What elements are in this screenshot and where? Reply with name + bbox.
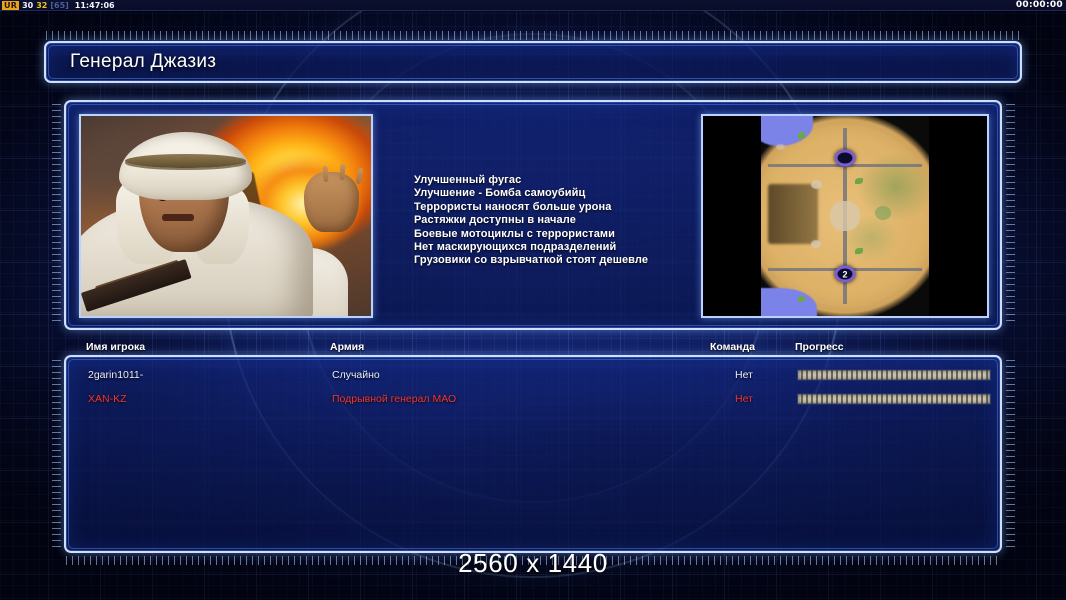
player-list-headers: Имя игрока Армия Команда Прогресс <box>64 341 1002 356</box>
general-description-list: Улучшенный фугас Улучшение - Бомба самоу… <box>414 174 734 268</box>
column-header-army: Армия <box>330 341 364 353</box>
progress-fill <box>798 371 990 380</box>
resolution-overlay: 2560 x 1440 <box>0 548 1066 579</box>
table-row[interactable]: 2garin1011- Случайно Нет <box>66 363 1000 387</box>
description-line: Грузовики со взрывчаткой стоят дешевле <box>414 254 734 267</box>
column-header-team: Команда <box>710 341 755 353</box>
system-clock: 11:47:06 <box>75 1 115 10</box>
player-team[interactable]: Нет <box>735 393 753 405</box>
portrait-finger-3 <box>322 166 328 182</box>
header-panel: Генерал Джазиз <box>44 41 1022 83</box>
player-progress-bar <box>797 394 991 405</box>
portrait-hand <box>304 172 359 232</box>
game-timer: 00:00:00 <box>1016 0 1066 10</box>
general-info-panel: Улучшенный фугас Улучшение - Бомба самоу… <box>64 100 1002 330</box>
description-line: Улучшенный фугас <box>414 174 734 187</box>
portrait-finger-2 <box>339 164 345 180</box>
portrait-headband <box>125 154 247 168</box>
map-center-plateau <box>830 201 860 231</box>
portrait-mouth <box>162 214 194 221</box>
description-line: Террористы наносят больше урона <box>414 201 734 214</box>
map-preview[interactable]: 2 <box>701 114 989 318</box>
player-army[interactable]: Случайно <box>332 369 380 381</box>
map-image: 2 <box>761 116 929 316</box>
description-line: Растяжки доступны в начале <box>414 214 734 227</box>
top-status-bar: UR 30 32 [65] 11:47:06 00:00:00 <box>0 0 1066 11</box>
map-shadow-zone <box>768 184 818 244</box>
player-list-panel: 2garin1011- Случайно Нет XAN-KZ Подрывно… <box>64 355 1002 553</box>
player-team[interactable]: Нет <box>735 369 753 381</box>
progress-fill <box>798 395 990 404</box>
map-start-position[interactable] <box>835 150 856 167</box>
status-value-2: 32 <box>36 1 47 10</box>
ur-badge: UR <box>2 1 19 10</box>
player-name: XAN-KZ <box>88 393 127 405</box>
description-line: Нет маскирующихся подразделений <box>414 241 734 254</box>
description-line: Улучшение - Бомба самоубийц <box>414 187 734 200</box>
table-row[interactable]: XAN-KZ Подрывной генерал МАО Нет <box>66 387 1000 411</box>
player-name: 2garin1011- <box>88 369 143 381</box>
status-value-1: 30 <box>22 1 33 10</box>
player-army[interactable]: Подрывной генерал МАО <box>332 393 456 405</box>
map-foliage <box>798 132 805 139</box>
page-title: Генерал Джазиз <box>70 51 216 73</box>
column-header-name: Имя игрока <box>86 341 145 353</box>
player-rows: 2garin1011- Случайно Нет XAN-KZ Подрывно… <box>66 363 1000 411</box>
game-lobby-screen: UR 30 32 [65] 11:47:06 00:00:00 Генерал … <box>0 0 1066 600</box>
column-header-progress: Прогресс <box>795 341 844 353</box>
map-start-position[interactable]: 2 <box>835 266 856 283</box>
status-left-group: UR 30 32 [65] 11:47:06 <box>0 1 115 10</box>
general-portrait <box>79 114 373 318</box>
status-value-3: [65] <box>50 1 68 10</box>
map-foliage <box>798 296 805 302</box>
description-line: Боевые мотоциклы с террористами <box>414 228 734 241</box>
player-progress-bar <box>797 370 991 381</box>
